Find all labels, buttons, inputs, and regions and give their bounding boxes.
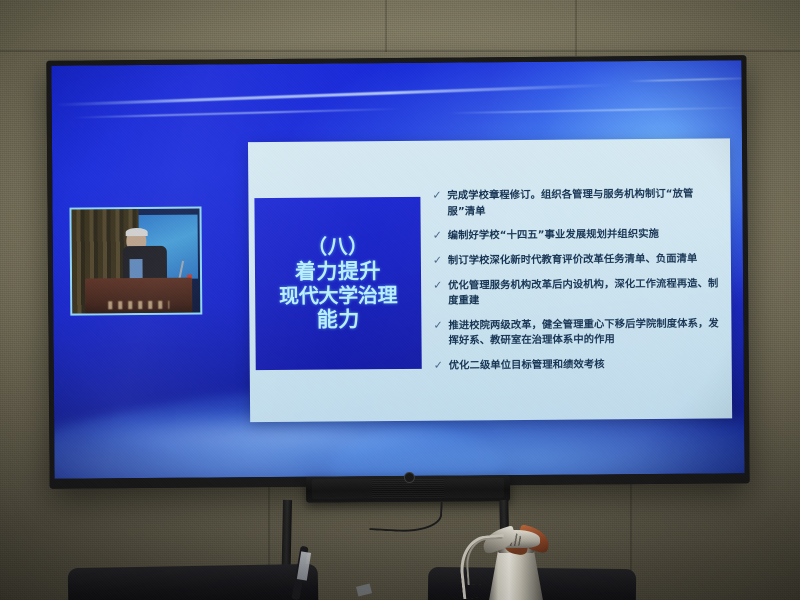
checkmark-icon: ✓ [434,359,446,374]
wall-seam-horizontal [0,50,800,52]
bullet-item: ✓ 编制好学校“十四五”事业发展规划并组织实施 [433,227,719,245]
presentation-slide: （八） 着力提升 现代大学治理 能力 ✓ 完成学校章程修订。组织各管理与服务机构… [51,60,744,478]
slide-content-panel: （八） 着力提升 现代大学治理 能力 ✓ 完成学校章程修订。组织各管理与服务机构… [248,138,732,422]
checkmark-icon: ✓ [433,254,445,269]
soundbar-camera-icon [404,472,415,483]
photo-speaker-hair [126,228,148,236]
bullet-text: 优化管理服务机构改革后内设机构，深化工作流程再造、制度重建 [448,276,719,309]
slide-title-box: （八） 着力提升 现代大学治理 能力 [254,197,421,370]
photo-podium [85,277,193,313]
wall-seam-vertical-1 [385,0,387,52]
bullet-item: ✓ 制订学校深化新时代教育评价改革任务清单、负面清单 [433,251,719,269]
checkmark-icon: ✓ [432,189,444,204]
tv-bezel: （八） 着力提升 现代大学治理 能力 ✓ 完成学校章程修订。组织各管理与服务机构… [46,55,749,488]
wall-seam-vertical-2 [575,0,577,56]
bullet-item: ✓ 推进校院两级改革，健全管理重心下移后学院制度体系，发挥好系、教研室在治理体系… [433,316,719,350]
bullet-text: 推进校院两级改革，健全管理重心下移后学院制度体系，发挥好系、教研室在治理体系中的… [448,316,719,349]
checkmark-icon: ✓ [433,278,445,293]
photo-podium-text [109,301,169,309]
chair-back-left [68,564,319,600]
bullet-text: 完成学校章程修订。组织各管理与服务机构制订“放管服”清单 [447,186,718,219]
slide-bullet-list: ✓ 完成学校章程修订。组织各管理与服务机构制订“放管服”清单 ✓ 编制好学校“十… [432,186,722,383]
thermos-flask[interactable] [474,524,556,600]
slide-title-number: （八） [307,236,369,259]
bullet-text: 编制好学校“十四五”事业发展规划并组织实施 [448,227,719,245]
slide-title-line-1: 着力提升 [295,259,381,284]
slide-light-beam-2 [72,108,402,119]
bullet-text: 优化二级单位目标管理和绩效考核 [449,357,720,375]
slide-title-line-3: 能力 [317,307,360,331]
conference-room-scene: （八） 着力提升 现代大学治理 能力 ✓ 完成学校章程修订。组织各管理与服务机构… [0,0,800,600]
speaker-photo-inset [69,207,202,316]
bullet-item: ✓ 优化管理服务机构改革后内设机构，深化工作流程再造、制度重建 [433,276,719,310]
checkmark-icon: ✓ [433,318,445,333]
wall-mounted-tv[interactable]: （八） 着力提升 现代大学治理 能力 ✓ 完成学校章程修订。组织各管理与服务机构… [46,55,749,488]
slide-title-line-2: 现代大学治理 [279,284,397,308]
checkmark-icon: ✓ [433,229,445,244]
bullet-item: ✓ 完成学校章程修订。组织各管理与服务机构制订“放管服”清单 [432,186,718,220]
soundbar[interactable] [306,475,510,502]
bullet-item: ✓ 优化二级单位目标管理和绩效考核 [434,357,720,375]
bullet-text: 制订学校深化新时代教育评价改革任务清单、负面清单 [448,251,719,269]
